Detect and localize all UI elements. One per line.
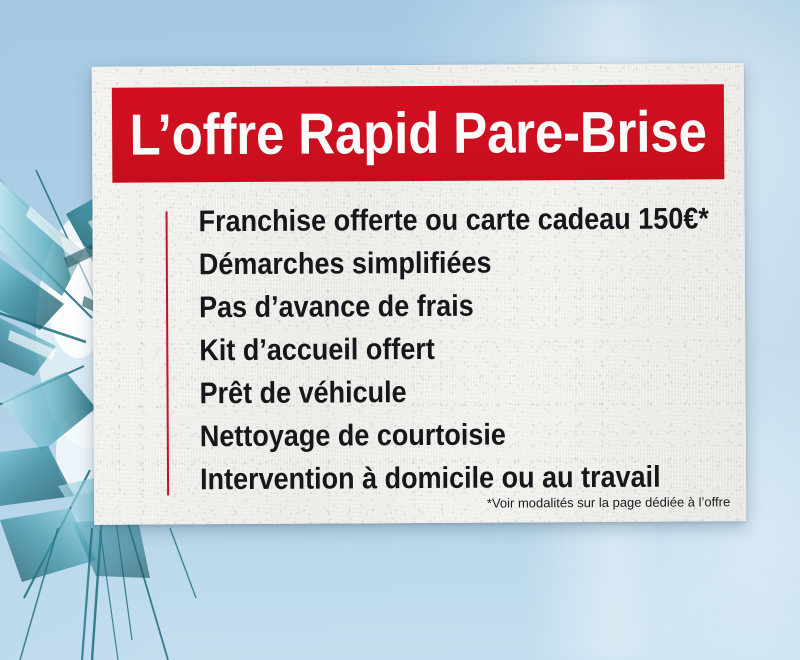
benefits-list: Franchise offerte ou carte cadeau 150€* … (198, 197, 732, 501)
poster-title: L’offre Rapid Pare-Brise (129, 103, 707, 164)
benefit-item: Pas d’avance de frais (199, 284, 678, 330)
headline-banner: L’offre Rapid Pare-Brise (112, 84, 725, 182)
benefit-item: Démarches simplifiées (199, 241, 678, 287)
poster-canvas: L’offre Rapid Pare-Brise Franchise offer… (0, 0, 800, 660)
offer-footnote: *Voir modalités sur la page dédiée à l’o… (487, 494, 730, 510)
benefit-item: Franchise offerte ou carte cadeau 150€* (198, 198, 677, 244)
offer-card: L’offre Rapid Pare-Brise Franchise offer… (92, 63, 747, 525)
benefit-item: Prêt de véhicule (199, 370, 678, 416)
benefit-item: Nettoyage de courtoisie (200, 413, 679, 459)
red-vertical-rule (166, 211, 170, 495)
benefit-item: Kit d’accueil offert (199, 327, 678, 373)
